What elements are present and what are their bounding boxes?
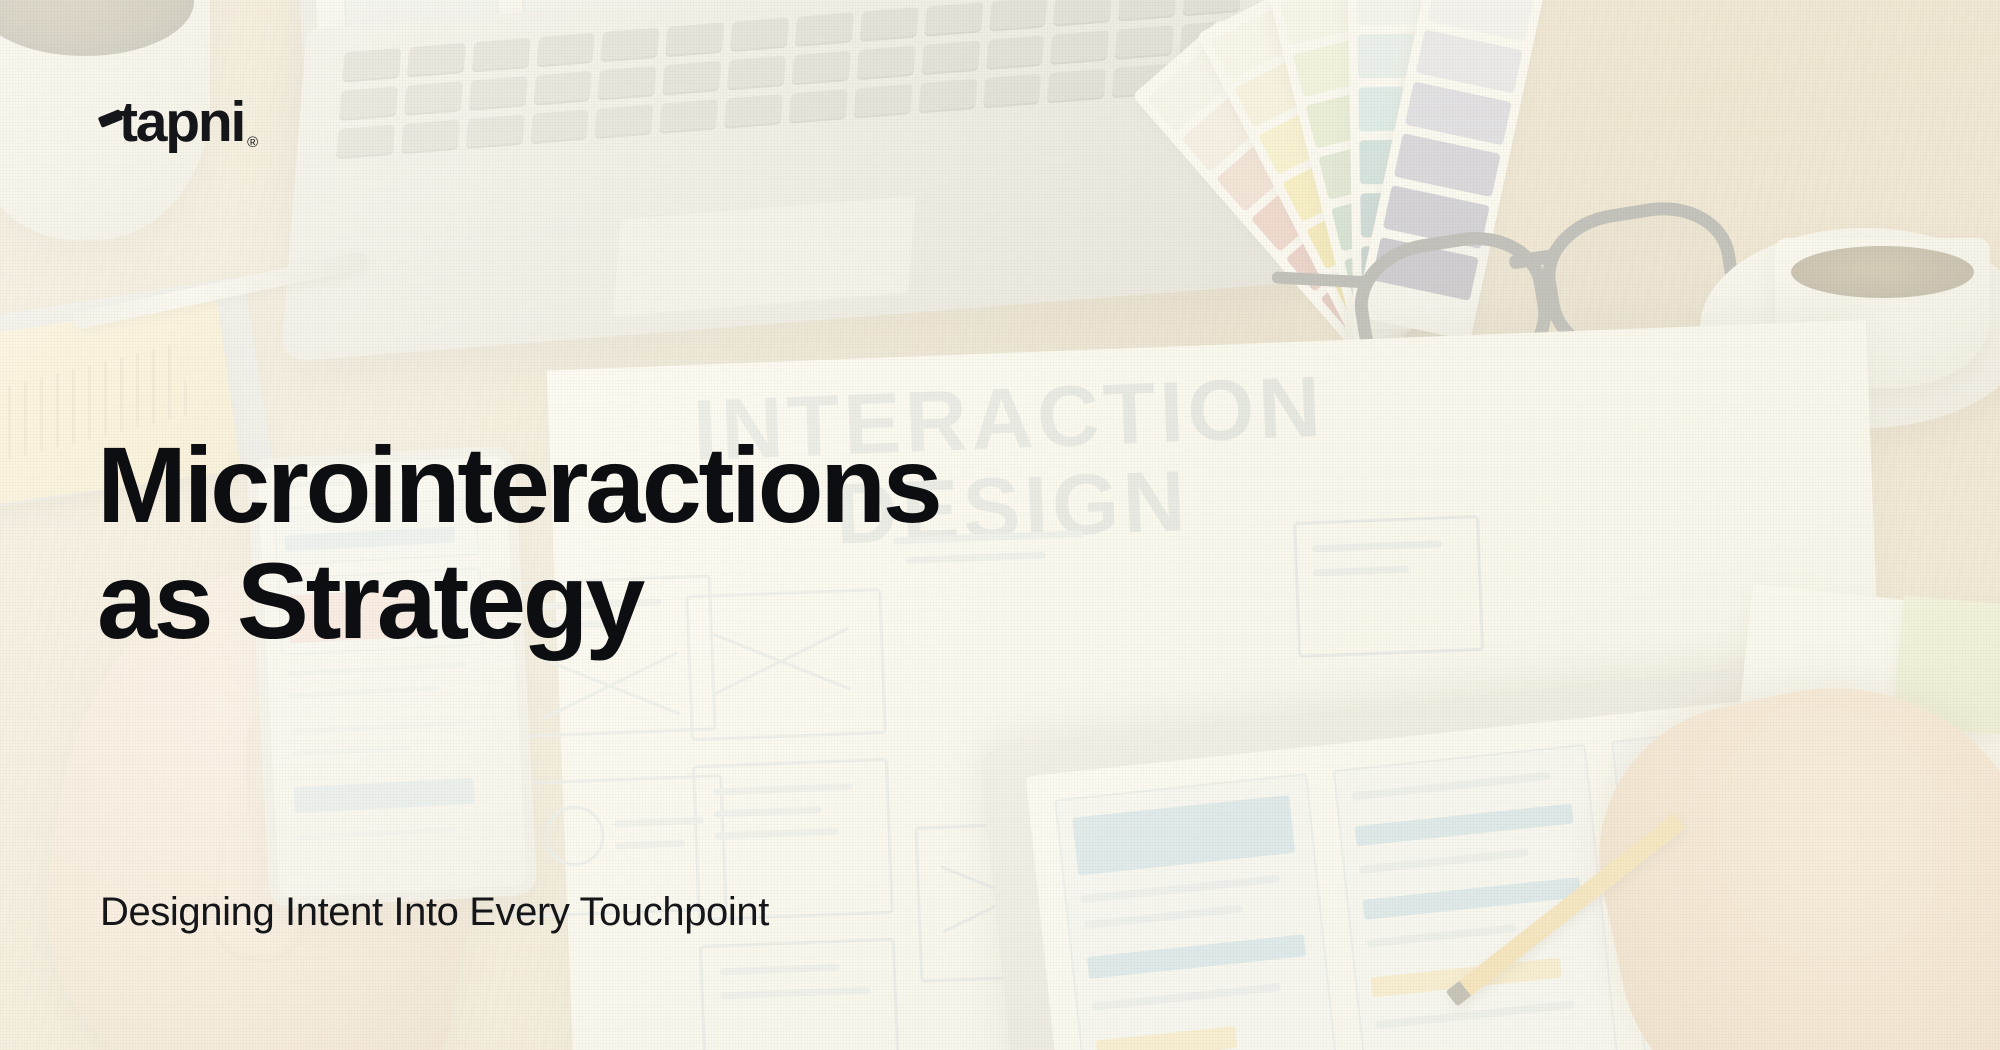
page-title-line-1: Microinteractions xyxy=(97,427,939,543)
tapni-logo-wordmark: tapni xyxy=(119,96,244,148)
banner-content: tapni ® Microinteractions as Strategy De… xyxy=(0,0,2000,1050)
article-banner: INTERACTION DESIGN xyxy=(0,0,2000,1050)
tapni-tick-icon xyxy=(97,104,123,130)
page-subtitle: Designing Intent Into Every Touchpoint xyxy=(100,890,769,935)
page-title: Microinteractions as Strategy xyxy=(97,427,939,658)
tapni-logo-trademark: ® xyxy=(247,134,258,151)
tapni-logo[interactable]: tapni ® xyxy=(97,96,258,156)
page-title-line-2: as Strategy xyxy=(97,543,939,659)
